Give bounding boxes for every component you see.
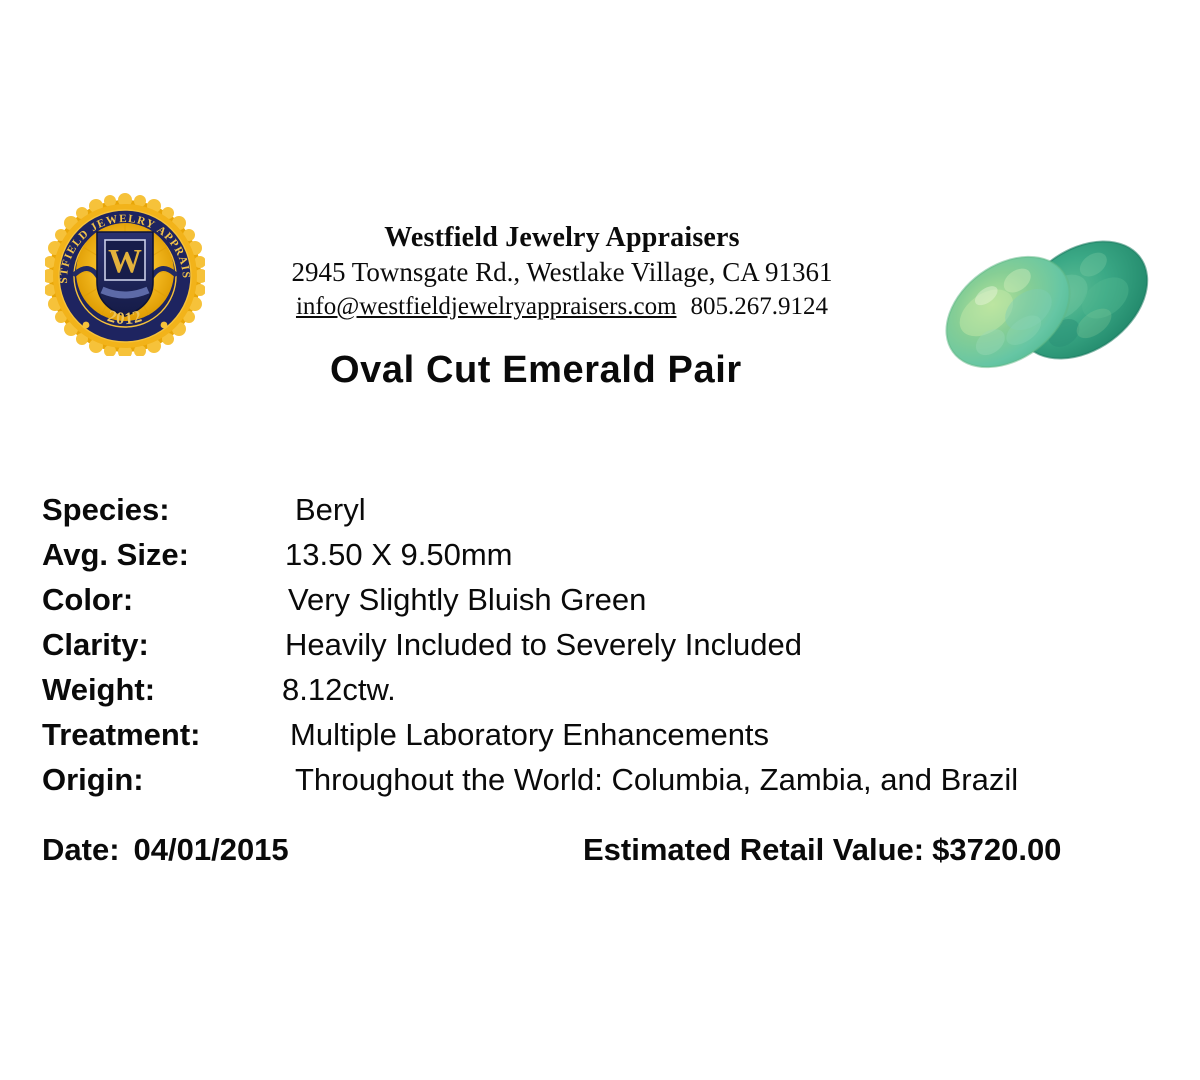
- spec-label: Color:: [42, 582, 133, 618]
- spec-value: 13.50 X 9.50mm: [285, 537, 512, 573]
- spec-label: Species:: [42, 492, 170, 528]
- spec-value: Throughout the World: Columbia, Zambia, …: [295, 762, 1018, 798]
- certificate-footer: Date:04/01/2015 Estimated Retail Value:$…: [42, 832, 1132, 876]
- retail-value-label: Estimated Retail Value:: [583, 832, 924, 867]
- seal-monogram-w: W: [108, 243, 142, 280]
- spec-label: Weight:: [42, 672, 155, 708]
- letterhead: Westfield Jewelry Appraisers 2945 Townsg…: [232, 222, 892, 322]
- spec-value: Very Slightly Bluish Green: [288, 582, 646, 618]
- oval-emerald-pair-photo: [930, 222, 1162, 388]
- spec-row: Species:Beryl: [42, 492, 1162, 537]
- spec-value: Heavily Included to Severely Included: [285, 627, 802, 663]
- estimated-retail-value: Estimated Retail Value:$3720.00: [583, 832, 1061, 868]
- spec-value: Multiple Laboratory Enhancements: [290, 717, 769, 753]
- seal-shield: W: [97, 232, 153, 316]
- organization-name: Westfield Jewelry Appraisers: [232, 222, 892, 254]
- spec-row: Weight:8.12ctw.: [42, 672, 1162, 717]
- spec-value: Beryl: [295, 492, 366, 528]
- retail-value-amount: $3720.00: [932, 832, 1061, 867]
- spec-row: Treatment:Multiple Laboratory Enhancemen…: [42, 717, 1162, 762]
- spec-label: Origin:: [42, 762, 144, 798]
- page-title: Oval Cut Emerald Pair: [330, 349, 742, 392]
- contact-line: info@westfieldjewelryappraisers.com805.2…: [232, 292, 892, 322]
- organization-address: 2945 Townsgate Rd., Westlake Village, CA…: [232, 256, 892, 288]
- specification-list: Species:BerylAvg. Size:13.50 X 9.50mmCol…: [42, 492, 1162, 807]
- appraiser-seal-icon: WESTFIELD JEWELRY APPRAISERS W: [45, 190, 205, 356]
- spec-row: Avg. Size:13.50 X 9.50mm: [42, 537, 1162, 582]
- appraisal-certificate-card: WESTFIELD JEWELRY APPRAISERS W: [0, 0, 1200, 1080]
- spec-value: 8.12ctw.: [282, 672, 396, 708]
- spec-row: Color:Very Slightly Bluish Green: [42, 582, 1162, 627]
- organization-phone: 805.267.9124: [691, 293, 829, 320]
- date-label: Date:: [42, 832, 120, 867]
- appraisal-date: Date:04/01/2015: [42, 832, 289, 868]
- spec-label: Clarity:: [42, 627, 149, 663]
- spec-row: Origin:Throughout the World: Columbia, Z…: [42, 762, 1162, 807]
- spec-label: Avg. Size:: [42, 537, 189, 573]
- date-value: 04/01/2015: [134, 832, 289, 867]
- spec-label: Treatment:: [42, 717, 200, 753]
- organization-email-link[interactable]: info@westfieldjewelryappraisers.com: [296, 293, 677, 320]
- spec-row: Clarity:Heavily Included to Severely Inc…: [42, 627, 1162, 672]
